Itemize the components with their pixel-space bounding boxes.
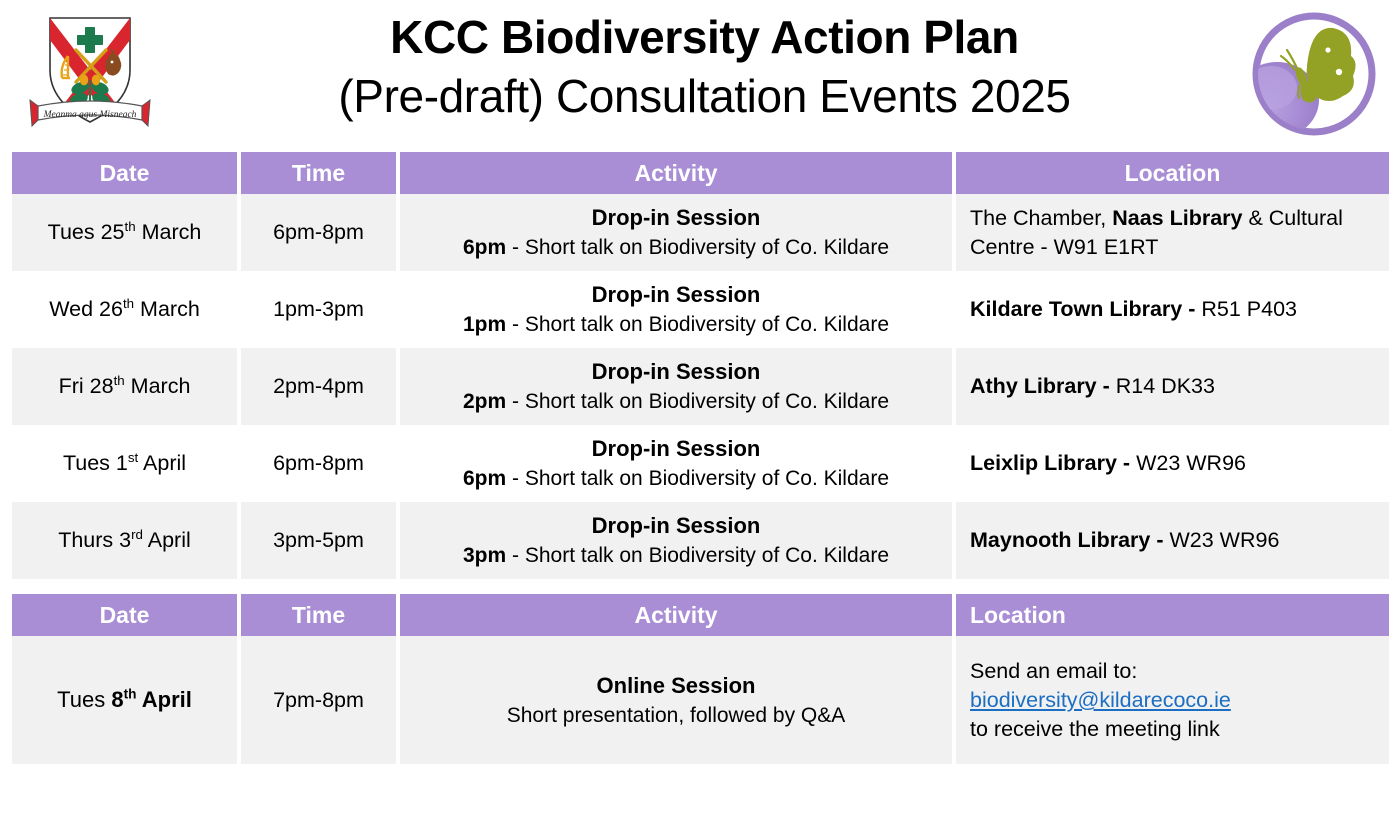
column-header-activity: Activity — [400, 594, 952, 636]
activity-detail: 2pm - Short talk on Biodiversity of Co. … — [414, 387, 938, 417]
activity-description: Short presentation, followed by Q&A — [414, 701, 938, 731]
location-instruction-tail: to receive the meeting link — [970, 715, 1375, 744]
date-text: Fri 28 — [59, 374, 114, 398]
date-emphasis: 8th April — [111, 687, 192, 712]
cell-location: The Chamber, Naas Library & Cultural Cen… — [956, 194, 1389, 271]
activity-detail: 1pm - Short talk on Biodiversity of Co. … — [414, 310, 938, 340]
date-text: Tues — [57, 687, 111, 712]
table-row: Wed 26th March 1pm-3pm Drop-in Session 1… — [12, 271, 1389, 348]
date-ordinal: st — [128, 450, 138, 465]
cell-location: Send an email to: biodiversity@kildareco… — [956, 636, 1389, 764]
table-row: Tues 8th April 7pm-8pm Online Session Sh… — [12, 636, 1389, 764]
activity-title: Drop-in Session — [414, 510, 938, 541]
cell-location: Kildare Town Library - R51 P403 — [956, 271, 1389, 348]
column-header-activity: Activity — [400, 152, 952, 194]
activity-time: 1pm — [463, 313, 506, 336]
column-header-date: Date — [12, 152, 237, 194]
activity-detail: 6pm - Short talk on Biodiversity of Co. … — [414, 464, 938, 494]
table-row: Fri 28th March 2pm-4pm Drop-in Session 2… — [12, 348, 1389, 425]
date-ordinal: th — [114, 373, 125, 388]
activity-time: 3pm — [463, 544, 506, 567]
activity-detail: 3pm - Short talk on Biodiversity of Co. … — [414, 541, 938, 571]
cell-location: Athy Library - R14 DK33 — [956, 348, 1389, 425]
crest-motto-text: Meanma agus Misneach — [43, 110, 137, 120]
column-header-location: Location — [956, 594, 1389, 636]
location-suffix: W23 WR96 — [1164, 528, 1280, 552]
cell-date: Thurs 3rd April — [12, 502, 237, 579]
date-month: April — [138, 451, 186, 475]
activity-title: Drop-in Session — [414, 202, 938, 233]
cell-activity: Drop-in Session 6pm - Short talk on Biod… — [400, 425, 952, 502]
date-text: Wed 26 — [49, 297, 123, 321]
location-suffix: R14 DK33 — [1110, 374, 1215, 398]
location-venue: Leixlip Library - — [970, 451, 1130, 475]
location-venue: Maynooth Library - — [970, 528, 1164, 552]
activity-detail: 6pm - Short talk on Biodiversity of Co. … — [414, 233, 938, 263]
page-title: KCC Biodiversity Action Plan (Pre-draft)… — [200, 8, 1209, 126]
cell-date: Fri 28th March — [12, 348, 237, 425]
cell-time: 2pm-4pm — [241, 348, 396, 425]
cell-location: Leixlip Library - W23 WR96 — [956, 425, 1389, 502]
location-instruction-line: Send an email to: — [970, 657, 1375, 686]
table-header-row: Date Time Activity Location — [12, 594, 1389, 636]
cell-date: Wed 26th March — [12, 271, 237, 348]
date-month: April — [143, 528, 191, 552]
cell-time: 6pm-8pm — [241, 425, 396, 502]
location-suffix: R51 P403 — [1195, 297, 1297, 321]
activity-title: Drop-in Session — [414, 433, 938, 464]
cell-time: 1pm-3pm — [241, 271, 396, 348]
activity-description: - Short talk on Biodiversity of Co. Kild… — [506, 313, 889, 336]
date-month: March — [134, 297, 200, 321]
column-header-date: Date — [12, 594, 237, 636]
biodiversity-email-link[interactable]: biodiversity@kildarecoco.ie — [970, 688, 1231, 712]
location-venue: Kildare Town Library - — [970, 297, 1195, 321]
activity-title: Drop-in Session — [414, 356, 938, 387]
cell-date: Tues 8th April — [12, 636, 237, 764]
activity-time: 6pm — [463, 467, 506, 490]
activity-time: 2pm — [463, 390, 506, 413]
cell-activity: Drop-in Session 6pm - Short talk on Biod… — [400, 194, 952, 271]
activity-title: Drop-in Session — [414, 279, 938, 310]
location-prefix: The Chamber, — [970, 206, 1112, 230]
date-text: Tues 1 — [63, 451, 128, 475]
cell-time: 7pm-8pm — [241, 636, 396, 764]
cell-activity: Online Session Short presentation, follo… — [400, 636, 952, 764]
location-venue: Athy Library - — [970, 374, 1110, 398]
activity-description: - Short talk on Biodiversity of Co. Kild… — [506, 236, 889, 259]
consultation-events-table: Date Time Activity Location Tues 25th Ma… — [8, 152, 1393, 579]
cell-date: Tues 25th March — [12, 194, 237, 271]
table-row: Thurs 3rd April 3pm-5pm Drop-in Session … — [12, 502, 1389, 579]
date-ordinal: th — [123, 296, 134, 311]
column-header-time: Time — [241, 594, 396, 636]
date-month: March — [125, 374, 191, 398]
date-ordinal: th — [124, 687, 137, 702]
kildare-county-council-crest-icon: Meanma agus Misneach — [24, 8, 156, 140]
cell-time: 3pm-5pm — [241, 502, 396, 579]
location-venue: Naas Library — [1112, 206, 1242, 230]
column-header-location: Location — [956, 152, 1389, 194]
table-row: Tues 25th March 6pm-8pm Drop-in Session … — [12, 194, 1389, 271]
date-month: March — [136, 220, 202, 244]
cell-date: Tues 1st April — [12, 425, 237, 502]
date-ordinal: rd — [131, 527, 143, 542]
activity-title: Online Session — [414, 670, 938, 701]
activity-description: - Short talk on Biodiversity of Co. Kild… — [506, 467, 889, 490]
date-ordinal: th — [125, 219, 136, 234]
activity-description: - Short talk on Biodiversity of Co. Kild… — [506, 544, 889, 567]
page-header: Meanma agus Misneach KCC Biodiversity Ac… — [0, 0, 1399, 152]
cell-activity: Drop-in Session 3pm - Short talk on Biod… — [400, 502, 952, 579]
biodiversity-butterfly-logo-icon — [1247, 10, 1381, 138]
page-title-line-1: KCC Biodiversity Action Plan — [200, 8, 1209, 67]
activity-time: 6pm — [463, 236, 506, 259]
column-header-time: Time — [241, 152, 396, 194]
cell-activity: Drop-in Session 1pm - Short talk on Biod… — [400, 271, 952, 348]
location-suffix: W23 WR96 — [1130, 451, 1246, 475]
cell-activity: Drop-in Session 2pm - Short talk on Biod… — [400, 348, 952, 425]
activity-description: - Short talk on Biodiversity of Co. Kild… — [506, 390, 889, 413]
cell-time: 6pm-8pm — [241, 194, 396, 271]
date-day: 8 — [111, 687, 123, 712]
date-month: April — [136, 687, 191, 712]
table-row: Tues 1st April 6pm-8pm Drop-in Session 6… — [12, 425, 1389, 502]
cell-location: Maynooth Library - W23 WR96 — [956, 502, 1389, 579]
online-session-table: Date Time Activity Location Tues 8th Apr… — [8, 594, 1393, 764]
date-text: Tues 25 — [48, 220, 125, 244]
date-text: Thurs 3 — [58, 528, 131, 552]
page-title-line-2: (Pre-draft) Consultation Events 2025 — [200, 67, 1209, 126]
table-header-row: Date Time Activity Location — [12, 152, 1389, 194]
